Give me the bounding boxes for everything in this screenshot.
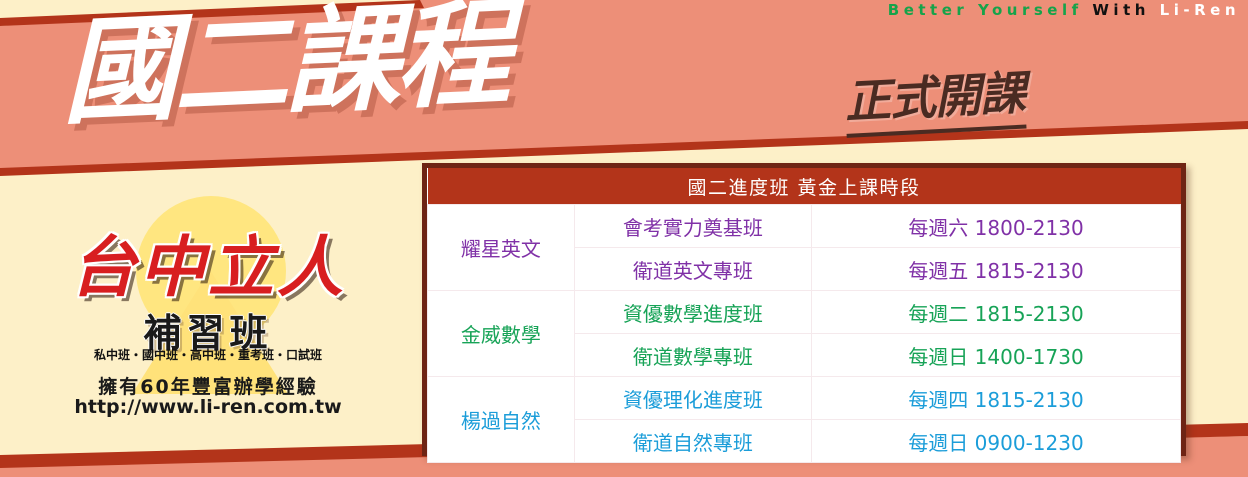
table-row: 楊過自然資優理化進度班每週四 1815-2130 <box>428 377 1181 420</box>
subtitle-badge: 正式開課 <box>843 57 1027 138</box>
table-cell-course: 衛道數學專班 <box>574 334 811 377</box>
table-row: 耀星英文會考實力奠基班每週六 1800-2130 <box>428 205 1181 248</box>
brand-logo: 台中立人 補習班 私中班・國中班・高中班・重考班・口試班 擁有60年豐富辦學經驗… <box>28 196 388 422</box>
logo-experience-text: 擁有60年豐富辦學經驗 <box>28 372 388 399</box>
table-row: 金威數學資優數學進度班每週二 1815-2130 <box>428 291 1181 334</box>
table-cell-time: 每週日 0900-1230 <box>812 420 1181 463</box>
table-cell-time: 每週日 1400-1730 <box>812 334 1181 377</box>
table-cell-course: 衛道自然專班 <box>574 420 811 463</box>
logo-class-categories: 私中班・國中班・高中班・重考班・口試班 <box>28 346 388 363</box>
table-cell-course: 衛道英文專班 <box>574 248 811 291</box>
table-cell-course: 資優理化進度班 <box>574 377 811 420</box>
logo-website-url[interactable]: http://www.li-ren.com.tw <box>28 396 388 418</box>
table-cell-time: 每週五 1815-2130 <box>812 248 1181 291</box>
table-cell-time: 每週二 1815-2130 <box>812 291 1181 334</box>
table-cell-time: 每週六 1800-2130 <box>812 205 1181 248</box>
page-title: 國二課程 <box>62 0 508 135</box>
table-cell-subject: 耀星英文 <box>428 205 575 291</box>
table-cell-time: 每週四 1815-2130 <box>812 377 1181 420</box>
table-cell-course: 會考實力奠基班 <box>574 205 811 248</box>
schedule-table-body: 耀星英文會考實力奠基班每週六 1800-2130衛道英文專班每週五 1815-2… <box>428 205 1181 463</box>
table-cell-subject: 楊過自然 <box>428 377 575 463</box>
tagline-part-2: With <box>1092 1 1150 19</box>
tagline-part-1: Better Yourself <box>888 1 1083 19</box>
table-header-row: 國二進度班 黃金上課時段 <box>428 168 1181 205</box>
table-cell-course: 資優數學進度班 <box>574 291 811 334</box>
logo-brand-name: 台中立人 <box>28 214 388 310</box>
schedule-table-container: 國二進度班 黃金上課時段 耀星英文會考實力奠基班每週六 1800-2130衛道英… <box>422 163 1186 456</box>
tagline-part-3: Li-Ren <box>1160 1 1240 19</box>
schedule-table: 國二進度班 黃金上課時段 耀星英文會考實力奠基班每週六 1800-2130衛道英… <box>427 168 1181 463</box>
table-cell-subject: 金威數學 <box>428 291 575 377</box>
promo-banner: Better Yourself With Li-Ren 國二課程 正式開課 台中… <box>0 0 1248 477</box>
schedule-table-header: 國二進度班 黃金上課時段 <box>428 168 1181 205</box>
